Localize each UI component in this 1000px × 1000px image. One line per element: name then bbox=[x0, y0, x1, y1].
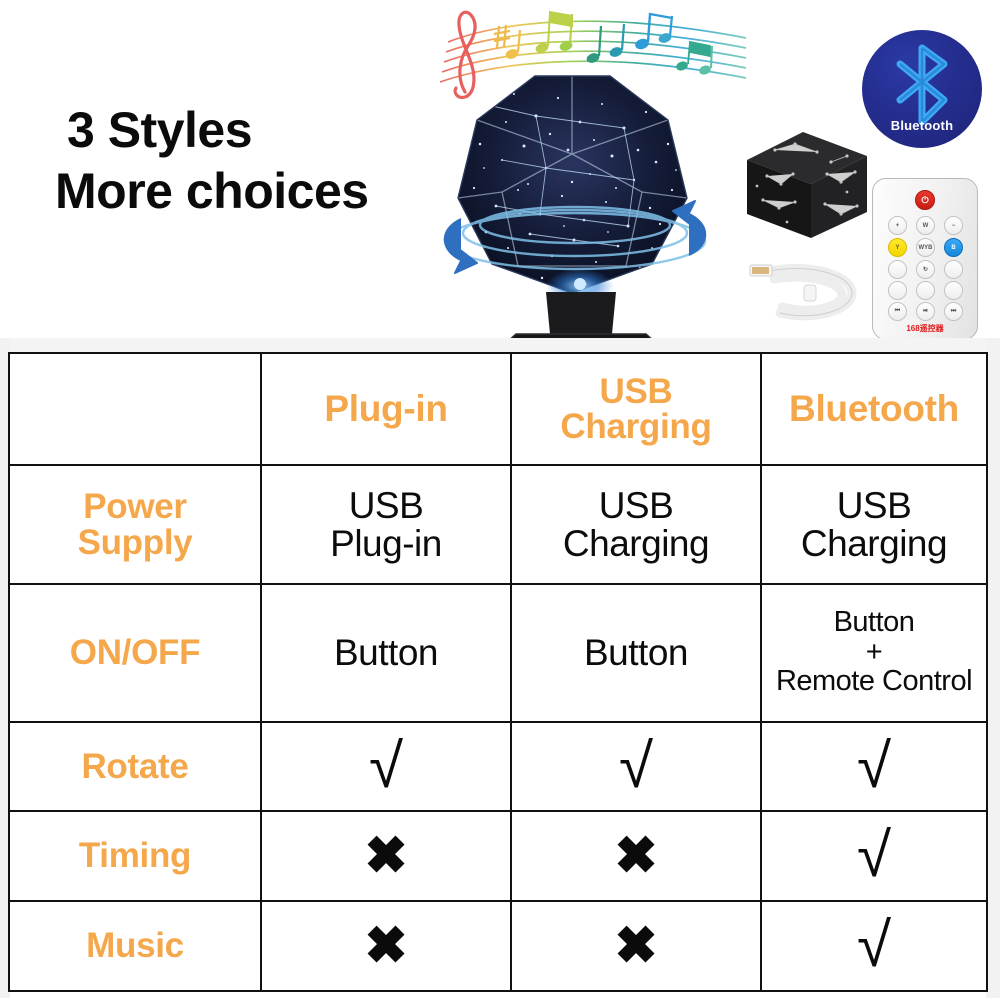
cell-timing-bluetooth: √ bbox=[761, 811, 987, 901]
row-label-rotate: Rotate bbox=[9, 722, 261, 812]
header-cell-blank bbox=[9, 353, 261, 465]
row-label-timing: Timing bbox=[9, 811, 261, 901]
remote-blue-button[interactable]: B bbox=[944, 238, 963, 257]
cell-line1: Button bbox=[516, 634, 756, 672]
remote-timer-30-button[interactable] bbox=[888, 281, 907, 300]
cell-line2: Charging bbox=[516, 525, 756, 563]
cross-mark: ✖ bbox=[364, 917, 408, 975]
cell-power-supply-plug-in: USB Plug-in bbox=[261, 465, 511, 583]
usb-charging-cable-icon bbox=[740, 245, 870, 335]
remote-wyb-button[interactable]: WYB bbox=[916, 238, 935, 257]
cell-rotate-usb-charging: √ bbox=[511, 722, 761, 812]
remote-previous-button[interactable]: ⏮ bbox=[888, 302, 907, 321]
row-label-on-off: ON/OFF bbox=[9, 584, 261, 722]
right-margin-rule bbox=[986, 338, 1000, 998]
table-row: Music ✖ ✖ √ bbox=[9, 901, 987, 991]
cell-power-supply-usb-charging: USB Charging bbox=[511, 465, 761, 583]
row-label-power-supply: Power Supply bbox=[9, 465, 261, 583]
row-label-line1: Music bbox=[14, 928, 256, 964]
cross-mark: ✖ bbox=[614, 917, 658, 975]
remote-timer-60-button[interactable] bbox=[944, 281, 963, 300]
headline-line-1: 3 Styles bbox=[55, 100, 455, 161]
remote-control: ⏻ + W − Y WYB B ↻ ⏮ ⏯ ⏭ 168遥控器 bbox=[872, 178, 978, 340]
cell-music-bluetooth: √ bbox=[761, 901, 987, 991]
remote-rotate-button[interactable]: ↻ bbox=[916, 260, 935, 279]
check-mark: √ bbox=[857, 732, 891, 801]
remote-plus-button[interactable]: + bbox=[888, 216, 907, 235]
row-label-music: Music bbox=[9, 901, 261, 991]
remote-volume-up-button[interactable] bbox=[916, 281, 935, 300]
check-mark: √ bbox=[369, 732, 403, 801]
cell-line2: Plug-in bbox=[266, 525, 506, 563]
remote-w-button[interactable]: W bbox=[916, 216, 935, 235]
bluetooth-badge-label: Bluetooth bbox=[862, 118, 982, 133]
check-mark: √ bbox=[619, 732, 653, 801]
cell-power-supply-bluetooth: USB Charging bbox=[761, 465, 987, 583]
remote-minus-button[interactable]: − bbox=[944, 216, 963, 235]
hero-table-divider bbox=[0, 338, 1000, 352]
cell-line2: + bbox=[766, 638, 982, 668]
page-title: 3 Styles More choices bbox=[55, 100, 455, 222]
remote-power-button[interactable]: ⏻ bbox=[915, 190, 935, 210]
cross-mark: ✖ bbox=[364, 827, 408, 885]
remote-caption: 168遥控器 bbox=[872, 323, 978, 334]
cell-rotate-bluetooth: √ bbox=[761, 722, 987, 812]
cell-on-off-plug-in: Button bbox=[261, 584, 511, 722]
remote-yellow-button[interactable]: Y bbox=[888, 238, 907, 257]
cell-line3: Remote Control bbox=[766, 667, 982, 697]
cell-on-off-bluetooth: Button + Remote Control bbox=[761, 584, 987, 722]
row-label-line1: ON/OFF bbox=[14, 635, 256, 671]
cell-line1: Button bbox=[266, 634, 506, 672]
headline-line-2: More choices bbox=[55, 161, 455, 222]
header-cell-usb-charging: USB Charging bbox=[511, 353, 761, 465]
header-cell-plug-in: Plug-in bbox=[261, 353, 511, 465]
cell-rotate-plug-in: √ bbox=[261, 722, 511, 812]
bluetooth-badge: Bluetooth bbox=[862, 30, 982, 148]
table-row: ON/OFF Button Button Button + Remote Con… bbox=[9, 584, 987, 722]
row-label-line1: Rotate bbox=[14, 749, 256, 785]
cell-timing-plug-in: ✖ bbox=[261, 811, 511, 901]
table-row: Timing ✖ ✖ √ bbox=[9, 811, 987, 901]
check-mark: √ bbox=[857, 821, 891, 890]
table-row: Power Supply USB Plug-in USB Charging US… bbox=[9, 465, 987, 583]
product-comparison-page: 3 Styles More choices bbox=[0, 0, 1000, 1000]
remote-next-button[interactable]: ⏭ bbox=[944, 302, 963, 321]
constellation-gift-box-icon bbox=[735, 122, 875, 247]
cell-line2: Charging bbox=[766, 525, 982, 563]
hero-banner: 3 Styles More choices bbox=[0, 0, 1000, 350]
table-row: Rotate √ √ √ bbox=[9, 722, 987, 812]
cell-music-usb-charging: ✖ bbox=[511, 901, 761, 991]
rotation-arrows-icon bbox=[425, 185, 725, 290]
header-usb-charging-line2: Charging bbox=[516, 409, 756, 445]
cell-music-plug-in: ✖ bbox=[261, 901, 511, 991]
cell-line1: USB bbox=[516, 487, 756, 525]
table-header-row: Plug-in USB Charging Bluetooth bbox=[9, 353, 987, 465]
cell-on-off-usb-charging: Button bbox=[511, 584, 761, 722]
header-plug-in-line1: Plug-in bbox=[266, 390, 506, 428]
cell-timing-usb-charging: ✖ bbox=[511, 811, 761, 901]
check-mark: √ bbox=[857, 911, 891, 980]
comparison-table: Plug-in USB Charging Bluetooth Power Sup… bbox=[8, 352, 988, 992]
remote-play-pause-button[interactable]: ⏯ bbox=[916, 302, 935, 321]
header-bluetooth-line1: Bluetooth bbox=[766, 390, 982, 428]
cross-mark: ✖ bbox=[614, 827, 658, 885]
cell-line1: Button bbox=[766, 608, 982, 638]
remote-mode-right-button[interactable] bbox=[944, 260, 963, 279]
row-label-line1: Power bbox=[14, 489, 256, 525]
row-label-line2: Supply bbox=[14, 525, 256, 561]
row-label-line1: Timing bbox=[14, 838, 256, 874]
comparison-table-wrapper: Plug-in USB Charging Bluetooth Power Sup… bbox=[8, 352, 986, 992]
cell-line1: USB bbox=[266, 487, 506, 525]
remote-mode-left-button[interactable] bbox=[888, 260, 907, 279]
header-usb-charging-line1: USB bbox=[516, 374, 756, 410]
header-cell-bluetooth: Bluetooth bbox=[761, 353, 987, 465]
cell-line1: USB bbox=[766, 487, 982, 525]
